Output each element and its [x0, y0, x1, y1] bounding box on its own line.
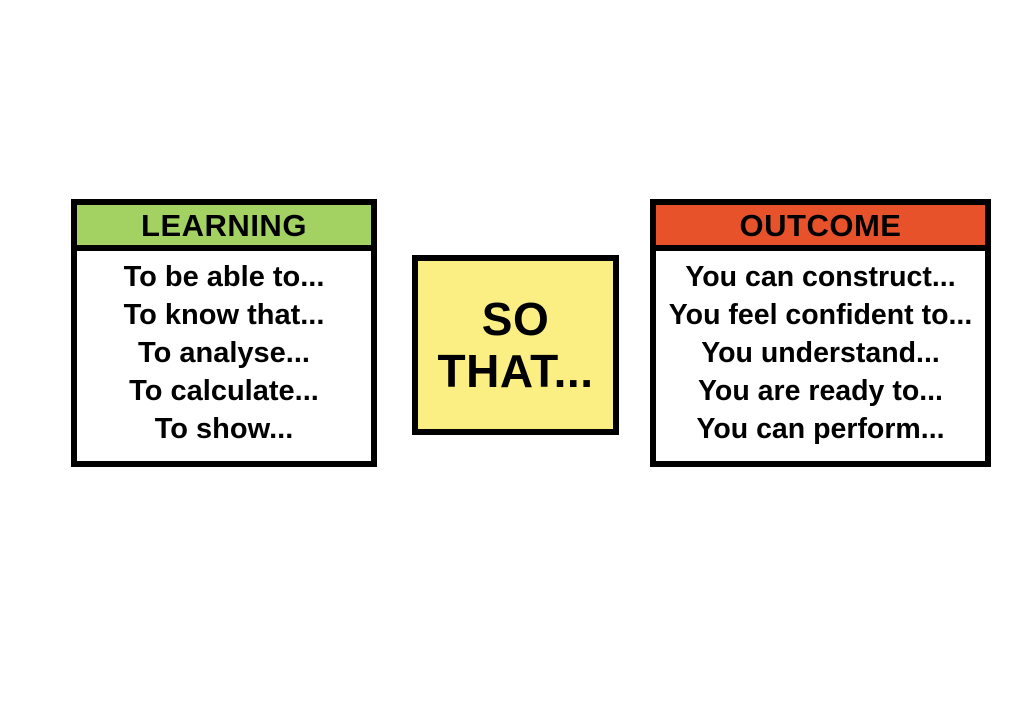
learning-line-3: To analyse...: [138, 334, 310, 372]
outcome-panel-title: OUTCOME: [740, 210, 902, 241]
outcome-line-1: You can construct...: [685, 258, 955, 296]
diagram-canvas: LEARNING To be able to... To know that..…: [0, 0, 1022, 720]
so-that-connector-box: SO THAT...: [412, 255, 619, 435]
learning-line-5: To show...: [155, 410, 294, 448]
outcome-line-3: You understand...: [701, 334, 940, 372]
outcome-line-5: You can perform...: [696, 410, 944, 448]
learning-panel-body: To be able to... To know that... To anal…: [77, 251, 371, 468]
outcome-line-4: You are ready to...: [698, 372, 943, 410]
so-that-line-1: SO: [482, 293, 549, 345]
so-that-line-2: THAT...: [438, 345, 594, 397]
learning-panel: LEARNING To be able to... To know that..…: [71, 199, 377, 467]
outcome-panel-header: OUTCOME: [656, 205, 985, 251]
learning-line-1: To be able to...: [124, 258, 325, 296]
learning-line-4: To calculate...: [129, 372, 319, 410]
learning-panel-title: LEARNING: [141, 210, 307, 241]
learning-line-2: To know that...: [124, 296, 325, 334]
outcome-panel: OUTCOME You can construct... You feel co…: [650, 199, 991, 467]
so-that-label: SO THAT...: [438, 293, 594, 397]
learning-panel-header: LEARNING: [77, 205, 371, 251]
outcome-panel-body: You can construct... You feel confident …: [656, 251, 985, 468]
outcome-line-2: You feel confident to...: [669, 296, 972, 334]
